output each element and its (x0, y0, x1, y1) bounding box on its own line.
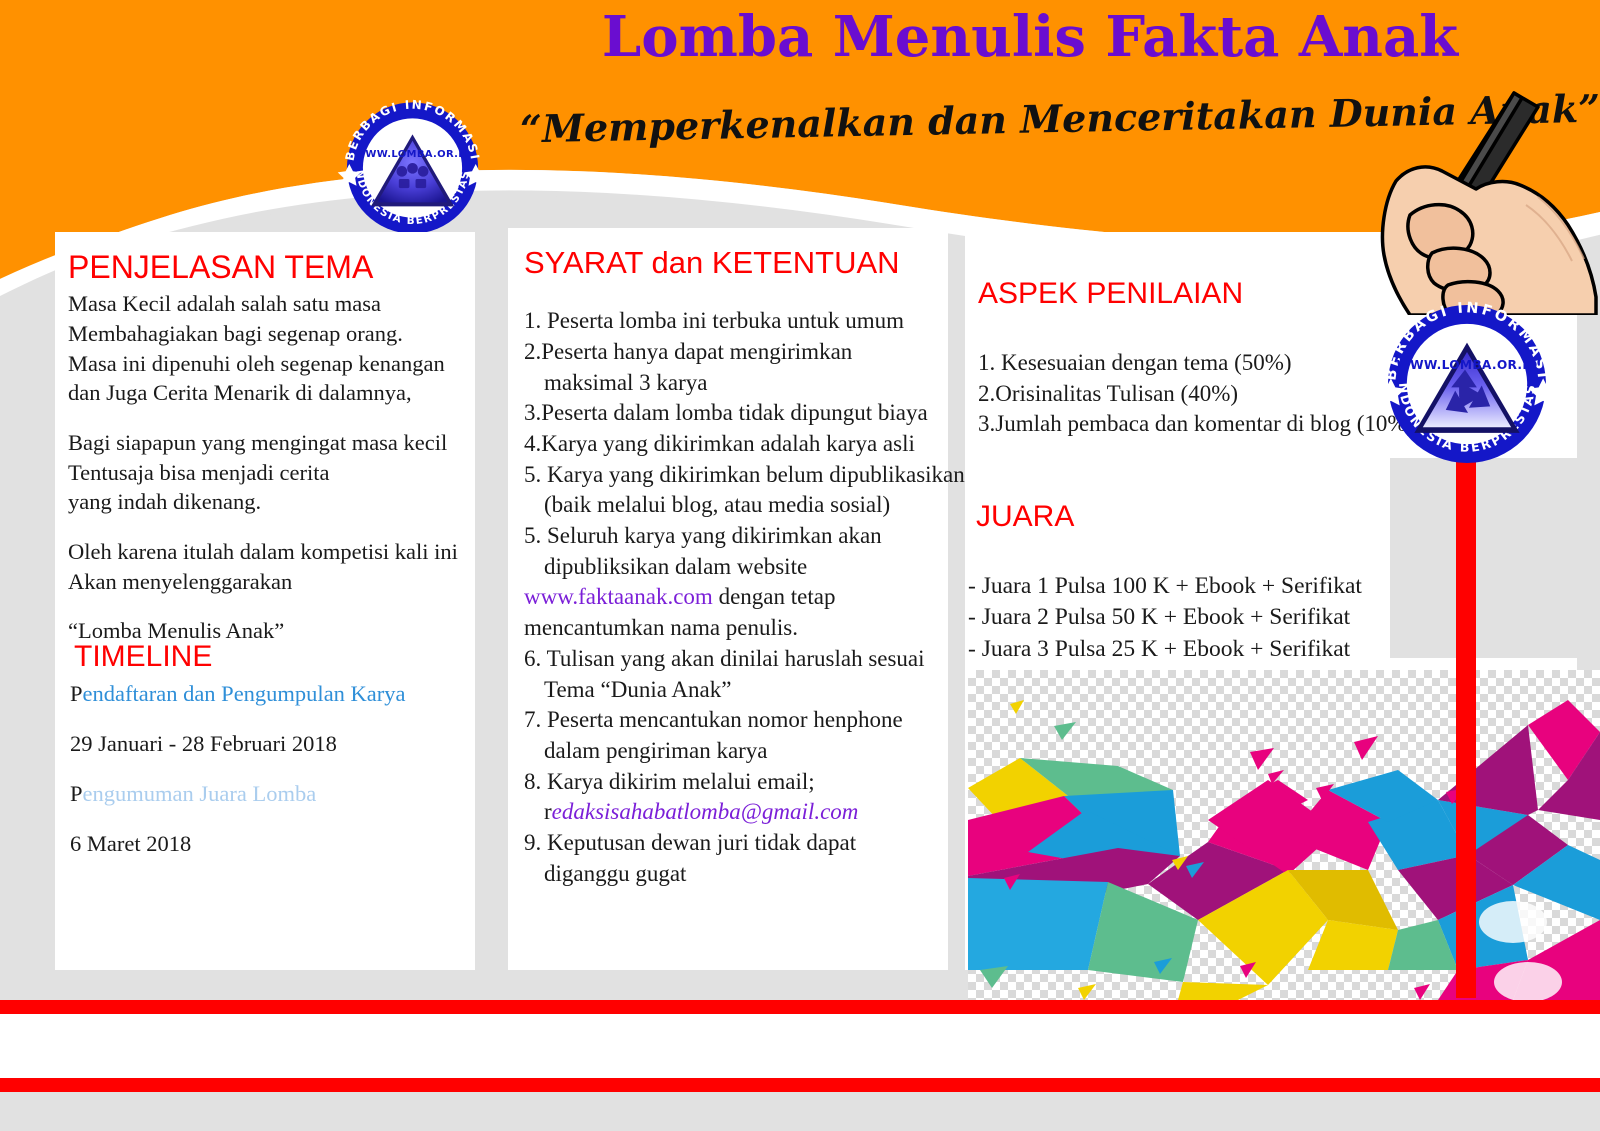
heading-juara: JUARA (976, 500, 1528, 533)
syarat-item: diganggu gugat (524, 859, 976, 890)
section-timeline: TIMELINE Pendaftaran dan Pengumpulan Kar… (70, 640, 470, 881)
syarat-item: mencantumkan nama penulis. (524, 613, 976, 644)
syarat-item: 5. Seluruh karya yang dikirimkan akan (524, 521, 976, 552)
website-link[interactable]: www.faktaanak.com (524, 584, 713, 609)
timeline-date-2: 6 Maret 2018 (70, 831, 470, 857)
section-juara: JUARA - Juara 1 Pulsa 100 K + Ebook + Se… (968, 500, 1528, 665)
tema-line: Masa Kecil adalah salah satu masa (68, 289, 468, 319)
logo-seal-top: BERBAGI INFORMASI INDONESIA BERPRESTASI … (305, 88, 520, 248)
syarat-item: 6. Tulisan yang akan dinilai haruslah se… (524, 644, 976, 675)
syarat-item: 7. Peserta mencantukan nomor henphone (524, 705, 976, 736)
timeline-label-2: Pengumuman Juara Lomba (70, 781, 470, 807)
tema-line: Akan menyelenggarakan (68, 567, 468, 597)
tema-line: Membahagiakan bagi segenap orang. (68, 319, 468, 349)
tema-line: Oleh karena itulah dalam kompetisi kali … (68, 537, 468, 567)
email-link[interactable]: edaksisahabatlomba@gmail.com (552, 799, 859, 824)
syarat-item: dalam pengiriman karya (524, 736, 976, 767)
timeline-label-2-rest: engumuman Juara Lomba (83, 781, 317, 806)
svg-text:WWW.LOMBA.OR.ID: WWW.LOMBA.OR.ID (1396, 358, 1537, 372)
heading-syarat-ketentuan: SYARAT dan KETENTUAN (524, 246, 976, 280)
syarat-item: www.faktaanak.com dengan tetap (524, 582, 976, 613)
heading-timeline: TIMELINE (74, 640, 470, 673)
tema-line: Masa ini dipenuhi oleh segenap kenangan (68, 349, 468, 379)
section-syarat-ketentuan: SYARAT dan KETENTUAN 1. Peserta lomba in… (524, 246, 976, 889)
timeline-label-1-rest: endaftaran dan Pengumpulan Karya (83, 681, 406, 706)
tema-body: Masa Kecil adalah salah satu masa Membah… (68, 289, 468, 646)
gray-strip-bottom (0, 1092, 1600, 1131)
syarat-item: 4.Karya yang dikirimkan adalah karya asl… (524, 429, 976, 460)
syarat-item: 8. Karya dikirim melalui email; (524, 767, 976, 798)
red-vertical-bar (1456, 458, 1476, 998)
timeline-label-2-initial: P (70, 781, 83, 806)
syarat-item: 2.Peserta hanya dapat mengirimkan (524, 337, 976, 368)
juara-item: - Juara 3 Pulsa 25 K + Ebook + Serifikat (968, 634, 1528, 665)
syarat-item: maksimal 3 karya (524, 368, 976, 399)
tema-line: Bagi siapapun yang mengingat masa kecil (68, 428, 468, 458)
syarat-item: 3.Peserta dalam lomba tidak dipungut bia… (524, 398, 976, 429)
polygon-art-decoration (968, 670, 1600, 1000)
juara-item: - Juara 1 Pulsa 100 K + Ebook + Serifika… (968, 571, 1528, 602)
logo-seal-right: BERBAGI INFORMASI INDONESIA BERPRESTASI … (1373, 290, 1561, 478)
tema-line: yang indah dikenang. (68, 487, 468, 517)
poster-canvas: Lomba Menulis Fakta Anak “Memperkenalkan… (0, 0, 1600, 1131)
syarat-item: (baik melalui blog, atau media sosial) (524, 490, 976, 521)
syarat-item: dipubliksikan dalam website (524, 552, 976, 583)
syarat-item: 1. Peserta lomba ini terbuka untuk umum (524, 306, 976, 337)
timeline-label-1: Pendaftaran dan Pengumpulan Karya (70, 681, 470, 707)
white-strip (0, 1014, 1600, 1078)
red-bar-top (0, 1000, 1600, 1014)
juara-list: - Juara 1 Pulsa 100 K + Ebook + Serifika… (968, 571, 1528, 665)
syarat-item: 9. Keputusan dewan juri tidak dapat (524, 828, 976, 859)
red-bar-bottom (0, 1078, 1600, 1092)
spacer (68, 517, 468, 537)
timeline-date-1: 29 Januari - 28 Februari 2018 (70, 731, 470, 757)
tema-line: dan Juga Cerita Menarik di dalamnya, (68, 378, 468, 408)
juara-item: - Juara 2 Pulsa 50 K + Ebook + Serifikat (968, 602, 1528, 633)
spacer (68, 596, 468, 616)
page-title: Lomba Menulis Fakta Anak (560, 8, 1500, 67)
hand-holding-pencil-icon (1300, 85, 1600, 315)
syarat-item: Tema “Dunia Anak” (524, 675, 976, 706)
spacer (68, 408, 468, 428)
syarat-item: redaksisahabatlomba@gmail.com (524, 797, 976, 828)
heading-penjelasan-tema: PENJELASAN TEMA (68, 250, 468, 285)
syarat-item: 5. Karya yang dikirimkan belum dipublika… (524, 460, 976, 491)
tema-line: Tentusaja bisa menjadi cerita (68, 458, 468, 488)
syarat-list: 1. Peserta lomba ini terbuka untuk umum2… (524, 306, 976, 889)
svg-text:WWW.LOMBA.OR.ID: WWW.LOMBA.OR.ID (354, 149, 471, 160)
section-penjelasan-tema: PENJELASAN TEMA Masa Kecil adalah salah … (68, 250, 468, 646)
timeline-label-1-initial: P (70, 681, 83, 706)
